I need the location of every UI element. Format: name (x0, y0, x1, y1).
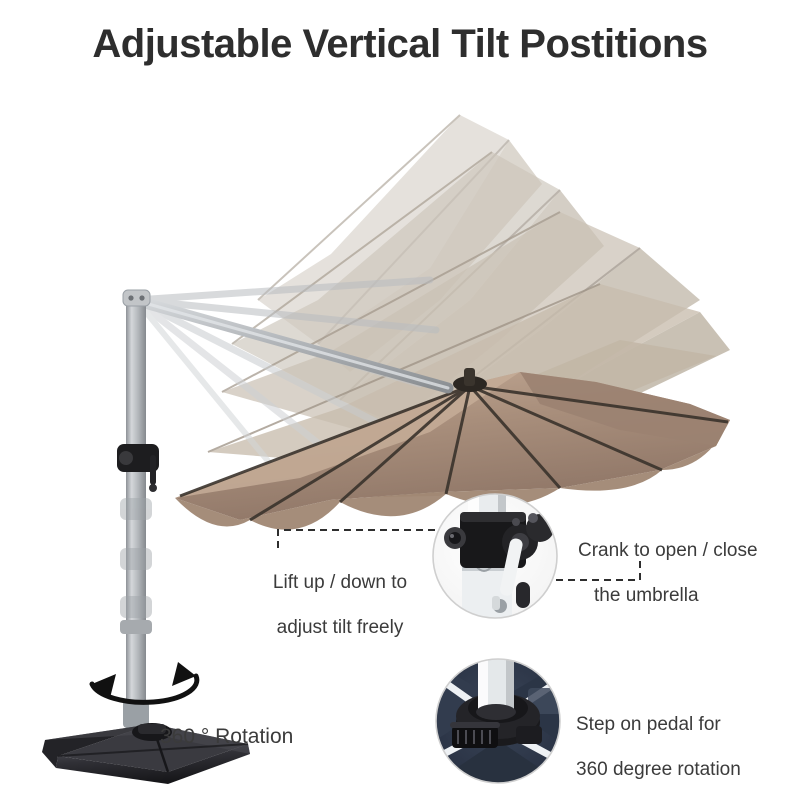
callout-pedal-line2: 360 degree rotation (576, 759, 786, 781)
connector-lift (278, 530, 440, 548)
support-pole (117, 290, 159, 736)
callout-pedal-line1: Step on pedal for (576, 714, 786, 736)
hinge-ghost-positions (120, 498, 152, 618)
callout-crank: Crank to open / close the umbrella (578, 518, 778, 630)
callout-rotation-label: 360 ° Rotation (160, 725, 360, 750)
umbrella-illustration (0, 0, 800, 800)
callout-lift-line1: Lift up / down to (250, 572, 430, 594)
foot-pedal (450, 722, 500, 748)
tilt-mechanism-inset (433, 486, 557, 628)
callout-crank-line1: Crank to open / close (578, 540, 778, 562)
infographic-canvas: Adjustable Vertical Tilt Postitions (0, 0, 800, 800)
callout-crank-line2: the umbrella (578, 585, 778, 607)
callout-pedal: Step on pedal for 360 degree rotation (576, 692, 786, 800)
callout-lift-line2: adjust tilt freely (250, 617, 430, 639)
pedal-base-inset (430, 650, 566, 783)
callout-lift-tilt: Lift up / down to adjust tilt freely (250, 550, 430, 662)
callout-rotation: 360 ° Rotation (160, 700, 360, 774)
